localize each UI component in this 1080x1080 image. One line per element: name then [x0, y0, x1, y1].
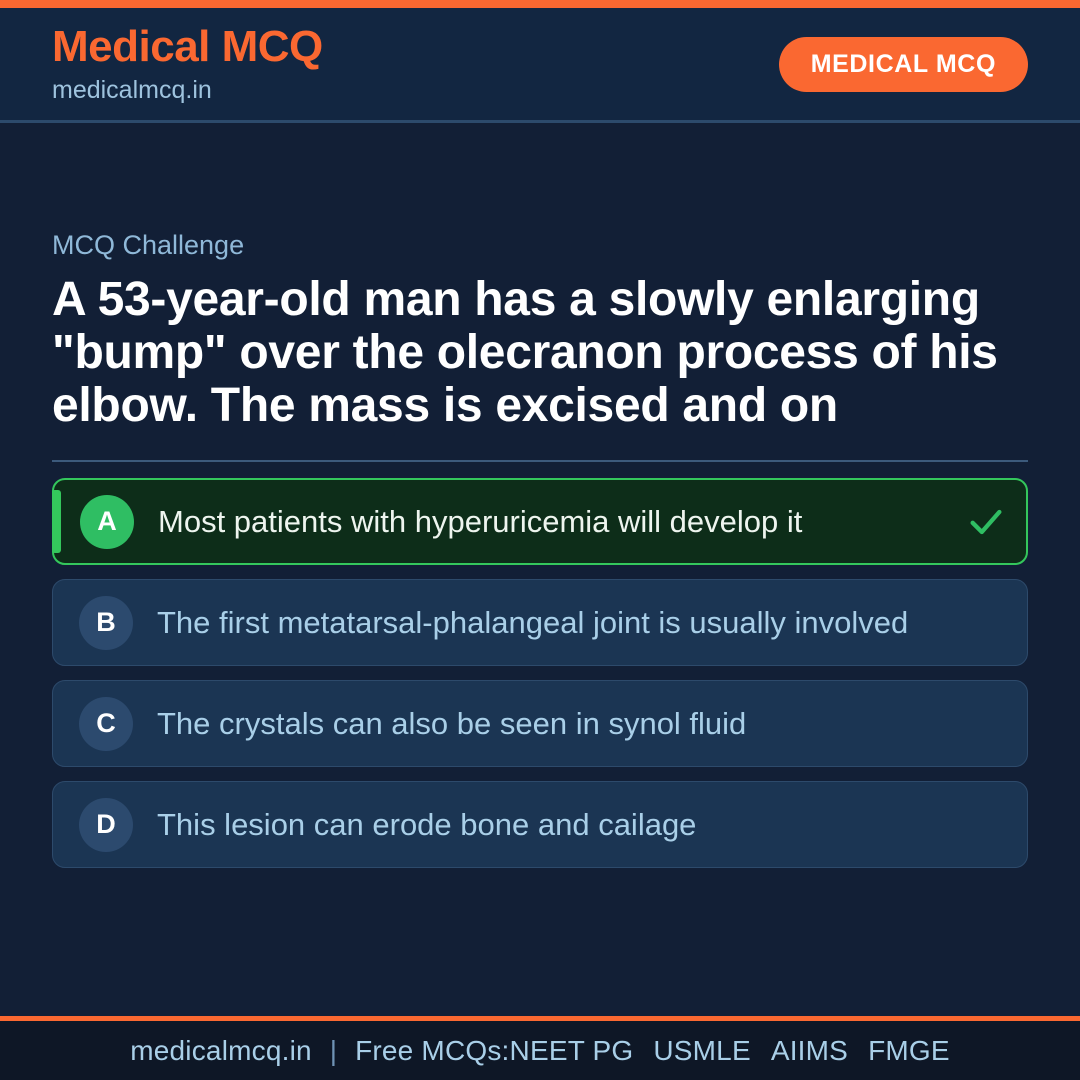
- option-b-text: The first metatarsal-phalangeal joint is…: [157, 605, 971, 641]
- option-a[interactable]: A Most patients with hyperuricemia will …: [52, 478, 1028, 565]
- footer: medicalmcq.in | Free MCQs: NEET PG USMLE…: [0, 1016, 1080, 1080]
- main-content: MCQ Challenge A 53-year-old man has a sl…: [0, 123, 1080, 1016]
- question-text: A 53-year-old man has a slowly enlarging…: [52, 273, 1012, 433]
- options-list: A Most patients with hyperuricemia will …: [52, 478, 1028, 868]
- option-b-badge: B: [79, 596, 133, 650]
- option-c-badge: C: [79, 697, 133, 751]
- footer-site[interactable]: medicalmcq.in: [130, 1035, 312, 1067]
- header-badge: MEDICAL MCQ: [779, 37, 1028, 92]
- question-divider: [52, 460, 1028, 462]
- footer-tag-neet-pg[interactable]: NEET PG: [510, 1035, 634, 1067]
- option-d[interactable]: D This lesion can erode bone and cailage: [52, 781, 1028, 868]
- option-a-text: Most patients with hyperuricemia will de…: [158, 504, 970, 540]
- brand-subtitle: medicalmcq.in: [52, 77, 323, 103]
- footer-tag-fmge[interactable]: FMGE: [868, 1035, 950, 1067]
- option-a-badge: A: [80, 495, 134, 549]
- mcq-card: Medical MCQ medicalmcq.in MEDICAL MCQ MC…: [0, 0, 1080, 1080]
- brand-title: Medical MCQ: [52, 24, 323, 70]
- eyebrow-label: MCQ Challenge: [52, 231, 1028, 261]
- option-c-text: The crystals can also be seen in synol f…: [157, 706, 971, 742]
- footer-separator: |: [330, 1035, 337, 1067]
- footer-tag-usmle[interactable]: USMLE: [653, 1035, 750, 1067]
- footer-tagline: Free MCQs:: [355, 1035, 509, 1067]
- header: Medical MCQ medicalmcq.in MEDICAL MCQ: [0, 8, 1080, 123]
- footer-tags: NEET PG USMLE AIIMS FMGE: [510, 1035, 950, 1067]
- brand-block: Medical MCQ medicalmcq.in: [52, 24, 323, 103]
- option-b[interactable]: B The first metatarsal-phalangeal joint …: [52, 579, 1028, 666]
- check-icon: [966, 502, 1006, 542]
- option-d-text: This lesion can erode bone and cailage: [157, 807, 971, 843]
- footer-tag-aiims[interactable]: AIIMS: [771, 1035, 848, 1067]
- top-accent-bar: [0, 0, 1080, 8]
- option-d-badge: D: [79, 798, 133, 852]
- correct-accent-bar: [54, 490, 61, 553]
- option-c[interactable]: C The crystals can also be seen in synol…: [52, 680, 1028, 767]
